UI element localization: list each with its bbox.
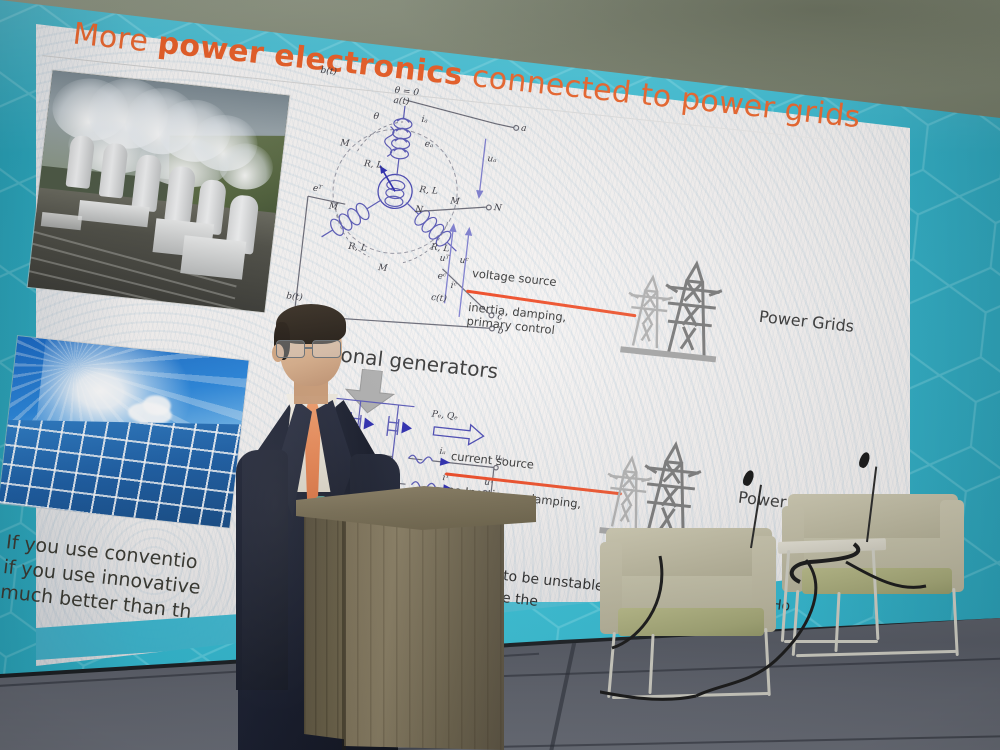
svg-text:iᶜ: iᶜ (450, 281, 457, 292)
svg-text:a: a (521, 123, 527, 134)
svg-text:eᵀ: eᵀ (312, 184, 323, 195)
svg-text:c(t): c(t) (431, 292, 448, 305)
microphone-cables (600, 520, 960, 710)
svg-text:eₐ: eₐ (424, 139, 434, 150)
svg-text:N: N (492, 203, 503, 214)
svg-text:N: N (414, 205, 425, 216)
svg-text:a(t): a(t) (393, 95, 411, 108)
svg-text:θ: θ (373, 112, 380, 123)
svg-text:uₐ: uₐ (487, 154, 497, 165)
svg-text:M: M (449, 196, 461, 207)
solar-panel-photo (0, 336, 249, 528)
svg-text:R, L: R, L (347, 242, 368, 254)
power-pylon-icon-top (597, 247, 749, 376)
svg-text:R, L: R, L (362, 159, 383, 171)
presentation-photo-scene: Green and Effective More power electroni… (0, 0, 1000, 750)
svg-text:iₐ: iₐ (421, 115, 428, 126)
svg-text:uᶜ: uᶜ (459, 256, 469, 267)
svg-text:M: M (327, 201, 339, 212)
svg-text:Pₑ, Qₑ: Pₑ, Qₑ (430, 409, 459, 422)
svg-text:iₐ: iₐ (439, 447, 446, 458)
podium (296, 486, 536, 750)
svg-text:R, L: R, L (418, 185, 439, 197)
svg-text:eᶜ: eᶜ (437, 271, 447, 282)
svg-text:M: M (377, 263, 389, 274)
svg-text:M: M (339, 138, 351, 149)
svg-text:b(t): b(t) (320, 65, 338, 78)
coal-power-plant-photo (28, 70, 290, 312)
eyeglasses (276, 340, 346, 357)
